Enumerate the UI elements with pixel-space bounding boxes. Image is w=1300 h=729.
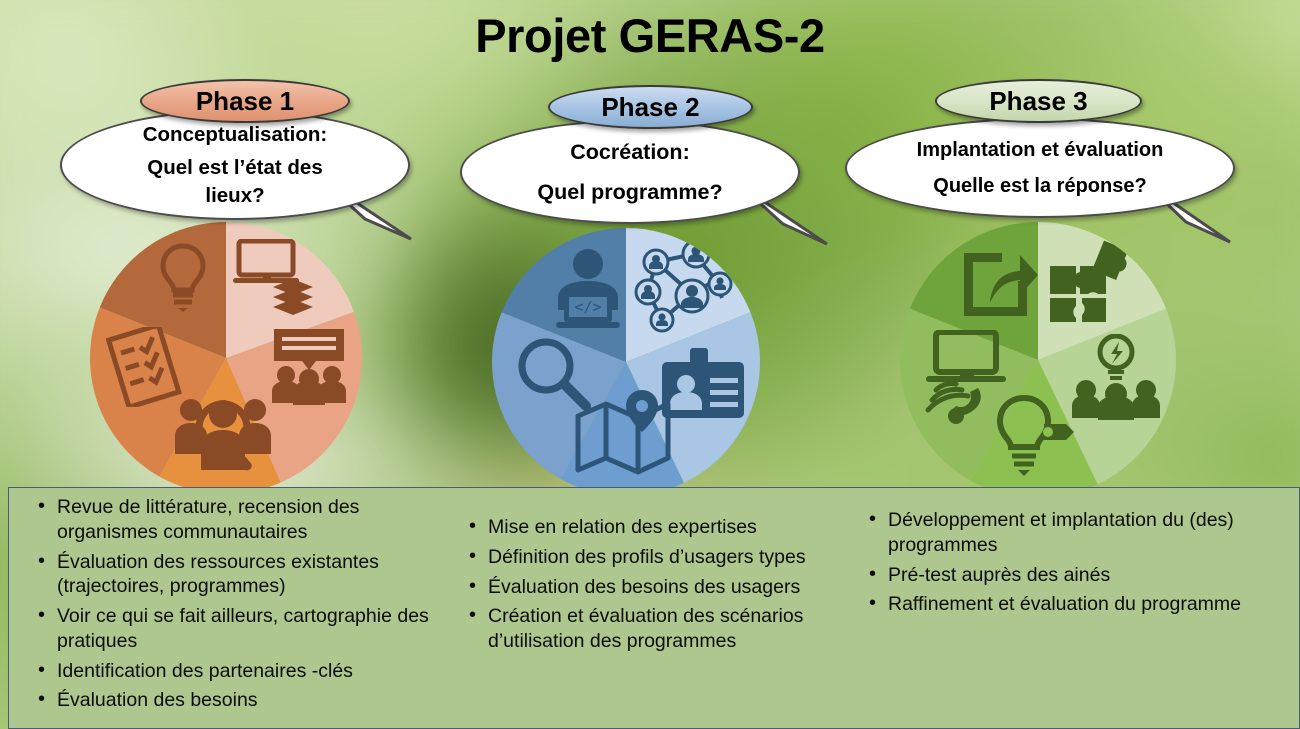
bubble-line: Quel programme? [537,178,722,206]
people-magnifier-icon [173,388,273,474]
phase-2-pill: Phase 2 [548,85,753,129]
list-item: Développement et implantation du (des) p… [864,508,1284,558]
bubble-line: Quel est l’état des [147,154,322,181]
magnifier-icon [514,336,592,414]
list-item: Création et évaluation des scénarios d’u… [464,604,854,654]
share-arrow-icon [960,247,1038,319]
puzzle-pieces-icon [1046,240,1146,332]
phase-2-bullet-column: Mise en relation des expertises Définiti… [464,515,854,659]
page-title: Projet GERAS-2 [0,8,1300,63]
bubble-line: lieux? [205,182,264,209]
laptop-phone-icon [918,330,1016,428]
speech-bubble-people-icon [270,327,348,405]
phase-3-bullet-list: Développement et implantation du (des) p… [864,508,1284,617]
bubble-line: Implantation et évaluation [917,137,1164,163]
phase-2-bullet-list: Mise en relation des expertises Définiti… [464,515,854,654]
network-people-icon [634,240,734,338]
phase-3-wheel [900,222,1176,498]
deliverables-panel: Revue de littérature, recension des orga… [8,487,1300,729]
svg-text:</>: </> [574,298,601,316]
laptop-books-icon [233,239,313,325]
list-item: Voir ce qui se fait ailleurs, cartograph… [33,604,458,654]
phase-1-bullet-column: Revue de littérature, recension des orga… [33,495,458,718]
list-item: Définition des profils d’usagers types [464,545,854,570]
phase-3-bullet-column: Développement et implantation du (des) p… [864,508,1284,622]
lightbulb-icon [156,242,210,312]
phase-3-pill-label: Phase 3 [989,86,1087,117]
list-item: Pré-test auprès des ainés [864,563,1284,588]
phase-1-wheel [90,222,362,494]
phase-3-pill: Phase 3 [935,79,1142,123]
phase-1-pill-label: Phase 1 [196,86,294,117]
phase-2-pill-label: Phase 2 [601,92,699,123]
phase-1-bullet-list: Revue de littérature, recension des orga… [33,495,458,713]
bubble-line: Cocréation: [570,138,689,166]
phase-1-bubble: Conceptualisation: Quel est l’état des l… [60,110,410,220]
person-laptop-code-icon: </> [550,248,626,332]
phase-1-pill: Phase 1 [140,79,350,123]
phase-2-bubble: Cocréation: Quel programme? [460,120,800,224]
list-item: Évaluation des besoins [33,688,458,713]
phase-2-wheel: </> [492,228,760,496]
list-item: Identification des partenaires -clés [33,659,458,684]
list-item: Évaluation des besoins des usagers [464,575,854,600]
bubble-line: Quelle est la réponse? [933,173,1146,199]
phase-3-bubble: Implantation et évaluation Quelle est la… [845,118,1235,218]
list-item: Évaluation des ressources existantes (tr… [33,550,458,600]
list-item: Revue de littérature, recension des orga… [33,495,458,545]
list-item: Raffinement et évaluation du programme [864,592,1284,617]
checklist-icon [106,327,182,407]
idea-people-icon [1072,334,1160,420]
bubble-line: Conceptualisation: [143,121,328,148]
infographic-slide: Projet GERAS-2 [0,0,1300,729]
list-item: Mise en relation des expertises [464,515,854,540]
